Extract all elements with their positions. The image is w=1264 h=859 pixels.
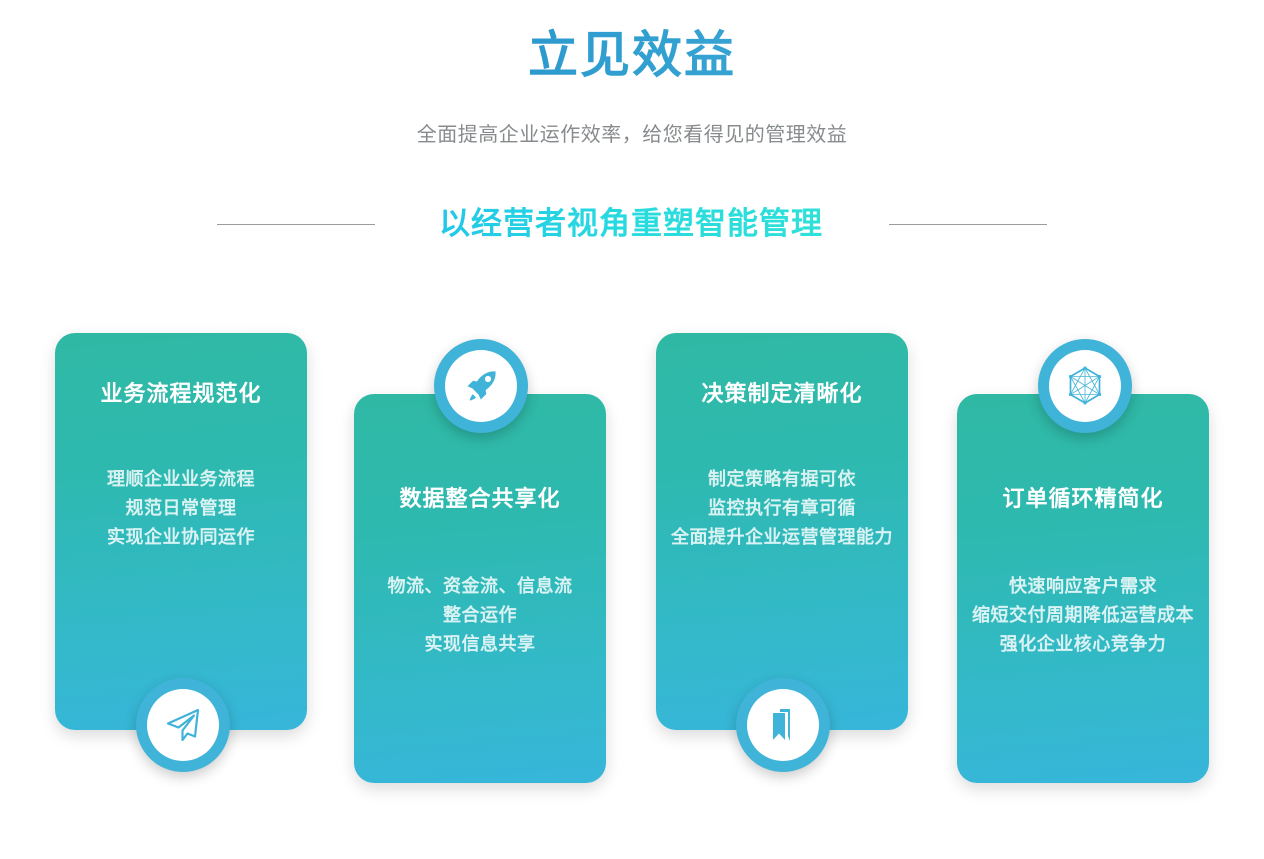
feature-card-3-icon-badge[interactable]	[736, 678, 830, 772]
feature-card-title: 订单循环精简化	[957, 484, 1209, 514]
feature-card-body: 理顺企业业务流程规范日常管理实现企业协同运作	[67, 465, 295, 552]
feature-card-title: 数据整合共享化	[354, 484, 606, 514]
bookmark-icon	[764, 705, 802, 745]
rocket-icon	[461, 366, 501, 406]
feature-card-2-icon-badge[interactable]	[434, 339, 528, 433]
hexagon-network-icon	[1064, 365, 1106, 407]
feature-card-4[interactable]: 订单循环精简化 快速响应客户需求缩短交付周期降低运营成本强化企业核心竞争力	[957, 394, 1209, 783]
feature-card-body: 物流、资金流、信息流整合运作实现信息共享	[366, 572, 594, 659]
feature-card-1[interactable]: 业务流程规范化 理顺企业业务流程规范日常管理实现企业协同运作	[55, 333, 307, 730]
feature-card-title: 业务流程规范化	[55, 379, 307, 409]
feature-card-2[interactable]: 数据整合共享化 物流、资金流、信息流整合运作实现信息共享	[354, 394, 606, 783]
feature-card-4-icon-badge[interactable]	[1038, 339, 1132, 433]
feature-cards-container: 业务流程规范化 理顺企业业务流程规范日常管理实现企业协同运作 数据整合共享化 物…	[0, 0, 1264, 859]
paper-plane-icon	[163, 705, 203, 745]
feature-card-title: 决策制定清晰化	[656, 379, 908, 409]
feature-card-body: 快速响应客户需求缩短交付周期降低运营成本强化企业核心竞争力	[969, 572, 1197, 659]
feature-card-1-icon-badge[interactable]	[136, 678, 230, 772]
feature-card-body: 制定策略有据可依监控执行有章可循全面提升企业运营管理能力	[668, 465, 896, 552]
feature-card-3[interactable]: 决策制定清晰化 制定策略有据可依监控执行有章可循全面提升企业运营管理能力	[656, 333, 908, 730]
